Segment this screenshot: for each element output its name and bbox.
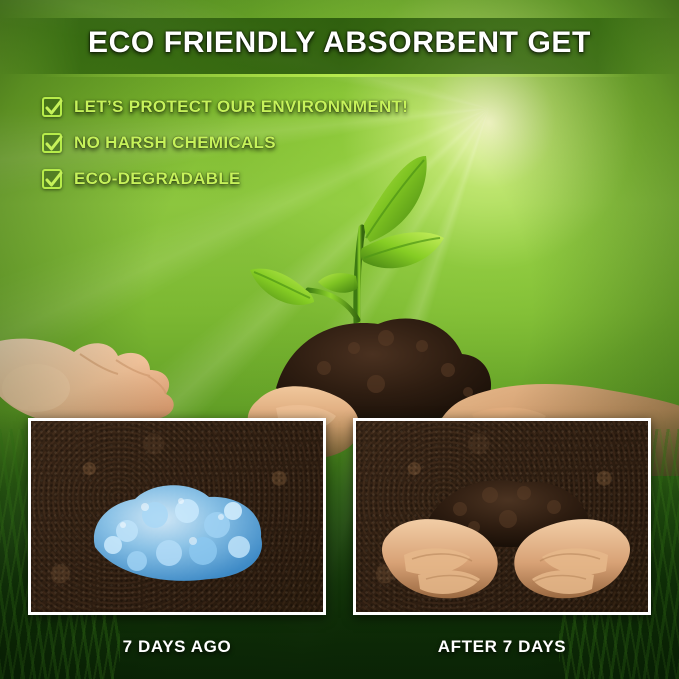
product-infographic: ECO FRIENDLY ABSORBENT GET LET’S PROTECT… xyxy=(0,0,679,679)
list-item: NO HARSH CHEMICALS xyxy=(42,128,472,158)
before-panel xyxy=(28,418,326,615)
water-crystals-illustration xyxy=(83,477,278,587)
list-item: ECO-DEGRADABLE xyxy=(42,164,472,194)
feature-list: LET’S PROTECT OUR ENVIRONNMENT! NO HARSH… xyxy=(42,92,472,200)
list-item: LET’S PROTECT OUR ENVIRONNMENT! xyxy=(42,92,472,122)
feature-label: LET’S PROTECT OUR ENVIRONNMENT! xyxy=(74,97,408,117)
check-icon xyxy=(42,133,62,153)
feature-label: ECO-DEGRADABLE xyxy=(74,169,241,189)
page-title: ECO FRIENDLY ABSORBENT GET xyxy=(0,26,679,60)
hands-holding-soil-illustration xyxy=(382,463,630,613)
before-caption: 7 DAYS AGO xyxy=(28,637,326,657)
check-icon xyxy=(42,97,62,117)
check-icon xyxy=(42,169,62,189)
after-panel xyxy=(353,418,651,615)
after-caption: AFTER 7 DAYS xyxy=(353,637,651,657)
feature-label: NO HARSH CHEMICALS xyxy=(74,133,276,153)
